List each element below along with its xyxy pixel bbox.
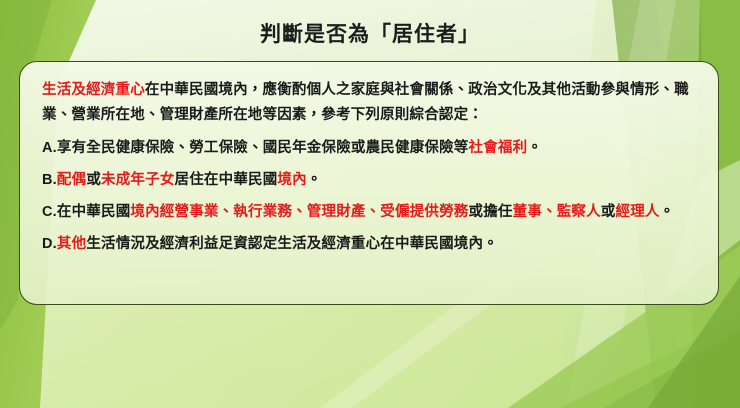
item-part: 居住在中華民國 — [175, 172, 278, 188]
item-part: 未成年子女 — [101, 172, 175, 188]
item-part: 配偶 — [57, 172, 86, 188]
list-item: C.在中華民國境內經營事業、執行業務、管理財產、受僱提供勞務或擔任董事、監察人或… — [42, 200, 696, 225]
item-part: 社會福利 — [469, 140, 528, 156]
item-part: 其他 — [57, 236, 86, 252]
item-part: 生活情況及經濟利益足資認定生活及經濟重心在中華民國境內。 — [86, 236, 498, 252]
item-part: 境內 — [277, 172, 306, 188]
item-part: 。 — [307, 172, 322, 188]
item-part: 在中華民國 — [57, 204, 131, 220]
content-panel: 生活及經濟重心在中華民國境內，應衡酌個人之家庭與社會關係、政治文化及其他活動參與… — [19, 61, 719, 305]
item-part: 董事、監察人 — [513, 204, 601, 220]
slide-canvas: 判斷是否為「居住者」 生活及經濟重心在中華民國境內，應衡酌個人之家庭與社會關係、… — [0, 0, 740, 408]
list-item: A.享有全民健康保險、勞工保險、國民年金保險或農民健康保險等社會福利。 — [42, 136, 696, 161]
item-part: 享有全民健康保險、勞工保險、國民年金保險或農民健康保險等 — [57, 140, 469, 156]
list-item: D.其他生活情況及經濟利益足資認定生活及經濟重心在中華民國境內。 — [42, 232, 696, 257]
item-part: 境內經營事業、執行業務、管理財產、受僱提供勞務 — [130, 204, 468, 220]
intro-highlight: 生活及經濟重心 — [42, 82, 145, 98]
page-title: 判斷是否為「居住者」 — [0, 22, 740, 47]
item-marker: C. — [42, 204, 57, 220]
item-marker: B. — [42, 172, 57, 188]
item-part: 經理人 — [616, 204, 660, 220]
list-item: B.配偶或未成年子女居住在中華民國境內。 — [42, 168, 696, 193]
item-part: 或 — [86, 172, 101, 188]
item-marker: A. — [42, 140, 57, 156]
item-part: 。 — [660, 204, 675, 220]
item-part: 或 — [601, 204, 616, 220]
intro-paragraph: 生活及經濟重心在中華民國境內，應衡酌個人之家庭與社會關係、政治文化及其他活動參與… — [42, 78, 696, 128]
item-marker: D. — [42, 236, 57, 252]
item-part: 或擔任 — [469, 204, 513, 220]
item-part: 。 — [527, 140, 542, 156]
